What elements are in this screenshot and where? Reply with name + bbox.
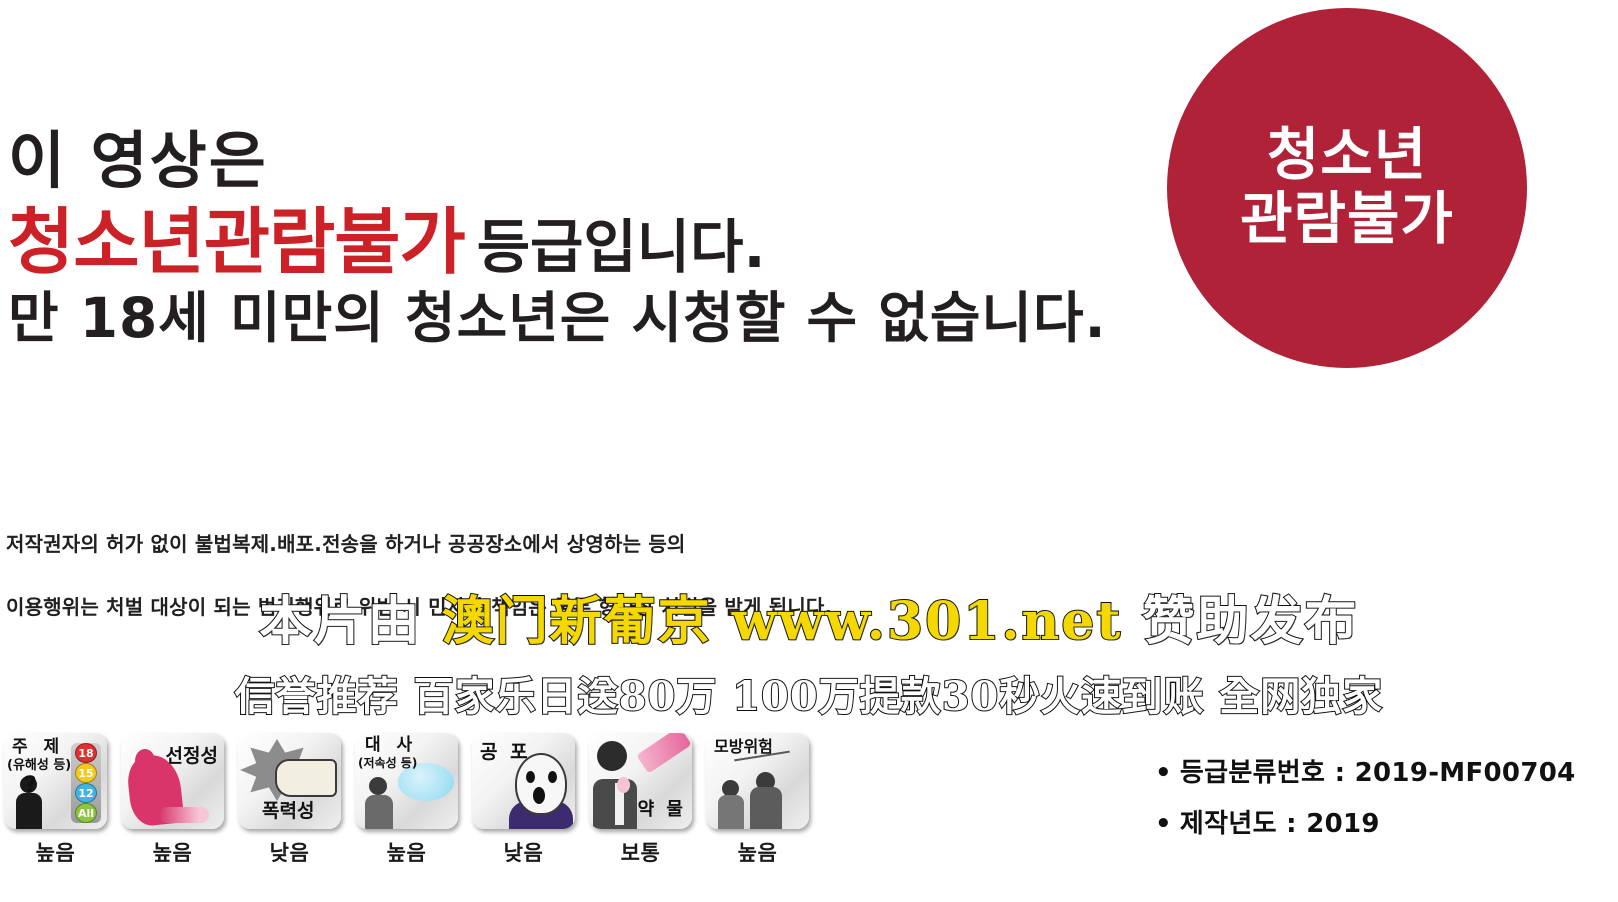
theme-icon-subtitle: (유해성 등) <box>7 759 71 772</box>
production-year: 제작년도 : 2019 <box>1155 803 1576 840</box>
syringe-icon <box>636 733 691 774</box>
headline-row-1: 이 영상은 <box>8 128 1158 195</box>
theme-icon: 주 제 (유해성 등) ? 18 15 12 All <box>4 733 107 829</box>
watermark-suffix: 赞助发布 <box>1143 591 1359 652</box>
age-chip-12: 12 <box>75 783 97 803</box>
violence-level-label: 낮음 <box>270 837 310 867</box>
question-mark-icon: ? <box>24 773 37 798</box>
fist-shape <box>275 759 337 797</box>
horror-icon: 공 포 <box>472 733 575 829</box>
dialogue-level-label: 높음 <box>387 837 427 867</box>
scream-mouth <box>533 787 545 804</box>
theme-icon-title: 주 제 <box>12 739 64 756</box>
classification-info: 등급분류번호 : 2019-MF00704 제작년도 : 2019 <box>1155 752 1576 854</box>
rating-icon-dialogue: 대 사 (저속성 등) 높음 <box>355 733 458 867</box>
rating-icon-theme: 주 제 (유해성 등) ? 18 15 12 All 높음 <box>4 733 107 867</box>
badge-line-1: 청소년 <box>1267 126 1427 186</box>
violence-icon: 폭력성 <box>238 733 341 829</box>
sexuality-icon: 선정성 <box>121 733 224 829</box>
horror-icon-title: 공 포 <box>480 743 531 762</box>
legal-notice: 저작권자의 허가 없이 불법복제.배포.전송을 하거나 공공장소에서 상영하는 … <box>6 528 1166 654</box>
age-chip-15: 15 <box>75 763 97 783</box>
theme-level-label: 높음 <box>36 837 76 867</box>
violence-icon-title: 폭력성 <box>262 802 314 821</box>
rating-icon-horror: 공 포 낮음 <box>472 733 575 867</box>
speaker-body-shape <box>365 795 393 829</box>
age-chip-18: 18 <box>75 743 97 763</box>
classification-number: 등급분류번호 : 2019-MF00704 <box>1155 752 1576 789</box>
headline-rating-emphasis: 청소년관람불가 <box>8 200 465 284</box>
headline-rating-suffix: 등급입니다. <box>477 213 766 281</box>
injection-drop-shape <box>617 777 630 793</box>
sexuality-level-label: 높음 <box>153 837 193 867</box>
rating-icon-violence: 폭력성 낮음 <box>238 733 341 867</box>
rating-icon-sexuality: 선정성 높음 <box>121 733 224 867</box>
drugs-icon: 약 물 <box>589 733 692 829</box>
badge-line-2: 관람불가 <box>1240 190 1454 250</box>
scream-left-eye <box>526 771 535 783</box>
dialogue-icon: 대 사 (저속성 등) <box>355 733 458 829</box>
dialogue-icon-title: 대 사 <box>365 737 417 754</box>
silhouette-head-shape <box>135 749 155 773</box>
imitation-level-label: 높음 <box>738 837 778 867</box>
headline-row-2: 청소년관람불가등급입니다. <box>8 203 1158 282</box>
headline-block: 이 영상은 청소년관람불가등급입니다. 만 18세 미만의 청소년은 시청할 수… <box>8 128 1158 350</box>
silhouette-leg-shape <box>159 807 209 823</box>
legal-line-2: 이용행위는 처벌 대상이 되는 범죄행위로 위반 시 민사상 책임은 물론 형사… <box>6 591 1166 620</box>
drug-user-head-shape <box>597 741 627 771</box>
imitation-icon-title: 모방위험 <box>714 739 773 755</box>
rating-badge-circle: 청소년 관람불가 <box>1167 8 1527 368</box>
headline-row-3: 만 18세 미만의 청소년은 시청할 수 없습니다. <box>8 288 1158 350</box>
drugs-level-label: 보통 <box>621 837 661 867</box>
person-body-shape <box>16 793 42 829</box>
age-chip-all: All <box>75 803 97 823</box>
speaker-head-shape <box>369 777 387 795</box>
dialogue-icon-subtitle: (저속성 등) <box>358 757 417 769</box>
sexuality-icon-title: 선정성 <box>166 747 218 766</box>
imitation-icon: 모방위험 <box>706 733 809 829</box>
rating-notice-screen: 청소년 관람불가 이 영상은 청소년관람불가등급입니다. 만 18세 미만의 청… <box>0 0 1618 902</box>
imitator-body-shape <box>718 795 744 829</box>
rating-icon-imitation: 모방위험 높음 <box>706 733 809 867</box>
scream-right-eye <box>548 771 557 783</box>
rating-icon-strip: 주 제 (유해성 등) ? 18 15 12 All 높음 선정성 <box>4 733 809 867</box>
horror-level-label: 낮음 <box>504 837 544 867</box>
model-body-shape <box>750 787 782 829</box>
legal-line-1: 저작권자의 허가 없이 불법복제.배포.전송을 하거나 공공장소에서 상영하는 … <box>6 528 1166 557</box>
age-chip-panel: 18 15 12 All <box>71 743 101 823</box>
watermark-line-2: 信誉推荐 百家乐日送80万 100万提款30秒火速到账 全网独家 <box>0 664 1618 722</box>
rating-icon-drugs: 약 물 보통 <box>589 733 692 867</box>
drugs-icon-title: 약 물 <box>638 801 686 819</box>
